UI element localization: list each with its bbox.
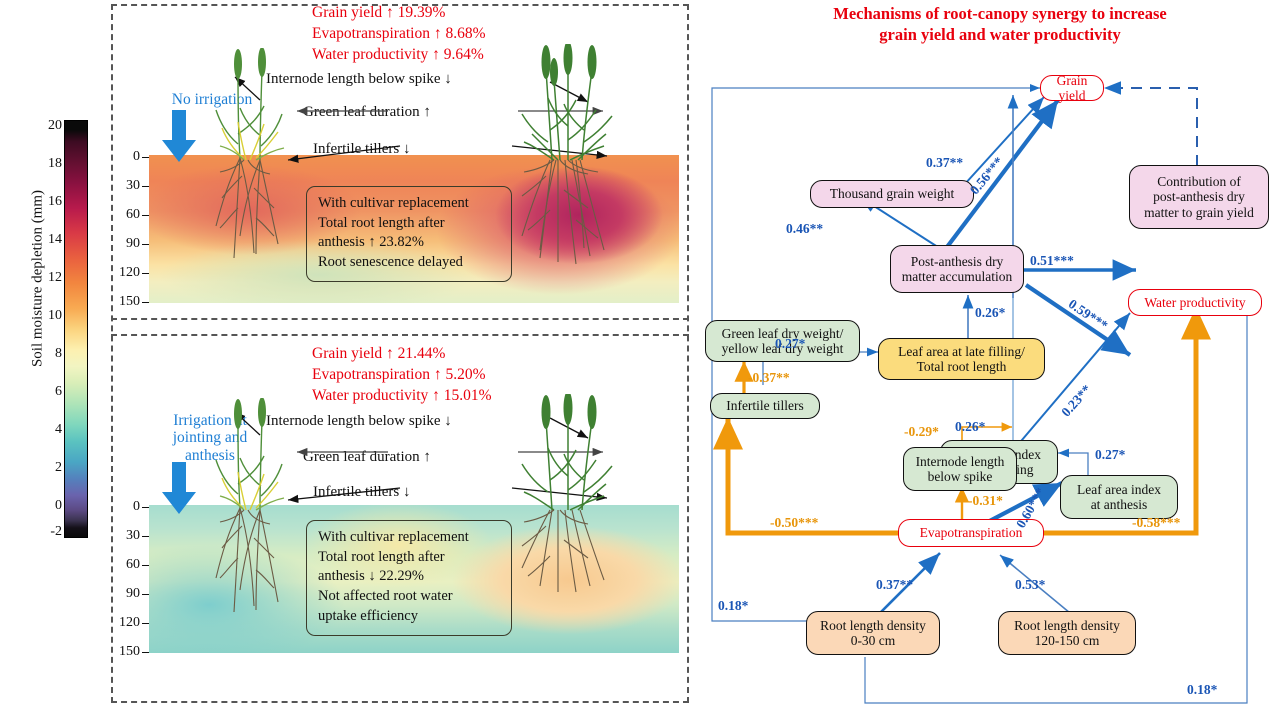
node-line: at anthesis: [1091, 497, 1148, 512]
node-line: Leaf area at late filling/: [898, 344, 1025, 359]
colorbar-tick: 0: [55, 498, 62, 514]
wheat-plant-new-cultivar-bottom: [510, 394, 640, 659]
coef-rld-shallow-to-et: 0.37**: [876, 577, 913, 593]
colorbar-gradient: [64, 120, 88, 538]
right-panel-title: Mechanisms of root-canopy synergy to inc…: [740, 3, 1260, 46]
coef-infertile-to-greenyellow: -0.37**: [748, 370, 790, 386]
node-line: Leaf area index: [1077, 482, 1161, 497]
wheat-plant-old-cultivar-top: [198, 48, 308, 308]
coef-leafarea-to-padma: 0.26*: [975, 305, 1005, 321]
depth-tick: 120: [109, 615, 140, 631]
path-diagram: Grain yield Thousand grain weight Post-a…: [700, 55, 1269, 711]
node-root-length-density-0-30[interactable]: Root length density 0-30 cm: [806, 611, 940, 655]
soil-moisture-colorbar: 20 18 16 14 12 10 8 6 4 2 0 -2: [64, 120, 88, 538]
node-contribution-post-anthesis-dry-matter[interactable]: Contribution of post-anthesis dry matter…: [1129, 165, 1269, 229]
coef-et-to-infertile-tillers: -0.50***: [770, 515, 818, 531]
node-line: 120-150 cm: [1035, 633, 1100, 648]
title-line-1: Mechanisms of root-canopy synergy to inc…: [740, 3, 1260, 24]
node-line: matter to grain yield: [1144, 205, 1254, 220]
node-internode-length-below-spike[interactable]: Internode length below spike: [903, 447, 1017, 491]
node-line: Total root length: [917, 359, 1007, 374]
coef-lai-anthesis-to-lai-late: 0.27*: [1095, 447, 1125, 463]
irrigation-down-arrow-bottom: [160, 462, 200, 518]
node-line: Internode length: [916, 454, 1005, 469]
colorbar-tick: 2: [55, 460, 62, 476]
colorbar-axis-label: Soil moisture depletion (mm): [30, 179, 47, 379]
coef-rld-shallow-to-water-productivity: 0.18*: [1187, 682, 1217, 698]
node-grain-yield[interactable]: Grain yield: [1040, 75, 1104, 101]
depth-tick: 90: [112, 586, 140, 602]
info-box-top: With cultivar replacement Total root len…: [306, 186, 512, 282]
depth-tick: 30: [112, 528, 140, 544]
coef-padma-to-contribution: 0.51***: [1030, 253, 1074, 269]
title-line-2: grain yield and water productivity: [740, 24, 1260, 45]
coef-internode-to-lai-late: -0.29*: [904, 424, 939, 440]
node-water-productivity[interactable]: Water productivity: [1128, 289, 1262, 316]
wheat-plant-old-cultivar-bottom: [198, 398, 308, 658]
node-line: 0-30 cm: [851, 633, 896, 648]
colorbar-tick: 6: [55, 384, 62, 400]
colorbar-tick: 18: [48, 156, 62, 172]
coef-greenyellow-to-leafarea: 0.27*: [775, 336, 805, 352]
stat-evapotranspiration-top: Evapotranspiration ↑ 8.68%: [312, 25, 485, 43]
node-post-anthesis-dry-matter-accumulation[interactable]: Post-anthesis dry matter accumulation: [890, 245, 1024, 293]
wheat-plant-new-cultivar-top: [510, 44, 640, 309]
coef-padma-to-tgw: 0.46**: [786, 221, 823, 237]
depth-tick: 150: [109, 644, 140, 660]
coef-rld-deep-to-et: 0.53*: [1015, 577, 1045, 593]
stat-grain-yield-bottom: Grain yield ↑ 21.44%: [312, 345, 445, 363]
info-box-bottom: With cultivar replacement Total root len…: [306, 520, 512, 636]
depth-tick: 60: [112, 557, 140, 573]
colorbar-tick: 10: [48, 308, 62, 324]
stat-evapotranspiration-bottom: Evapotranspiration ↑ 5.20%: [312, 366, 485, 384]
node-leaf-area-late-filling-total-root-length[interactable]: Leaf area at late filling/ Total root le…: [878, 338, 1045, 380]
coef-et-to-internode: -0.31*: [968, 493, 1003, 509]
irrigation-down-arrow-top: [160, 110, 200, 166]
node-leaf-area-index-anthesis[interactable]: Leaf area index at anthesis: [1060, 475, 1178, 519]
coef-tgw-to-grain-yield: 0.37**: [926, 155, 963, 171]
node-infertile-tillers[interactable]: Infertile tillers: [710, 393, 820, 419]
node-root-length-density-120-150[interactable]: Root length density 120-150 cm: [998, 611, 1136, 655]
coef-lai-late-to-padma: 0.26*: [955, 419, 985, 435]
node-line: matter accumulation: [902, 269, 1013, 284]
colorbar-tick: -2: [50, 524, 62, 540]
coef-rld-shallow-to-grain-yield: 0.18*: [718, 598, 748, 614]
colorbar-tick: 16: [48, 194, 62, 210]
node-line: below spike: [928, 469, 993, 484]
colorbar-tick: 4: [55, 422, 62, 438]
colorbar-tick: 20: [48, 118, 62, 134]
node-line: Root length density: [820, 618, 926, 633]
node-line: post-anthesis dry: [1153, 189, 1245, 204]
node-thousand-grain-weight[interactable]: Thousand grain weight: [810, 180, 974, 208]
stat-grain-yield-top: Grain yield ↑ 19.39%: [312, 4, 445, 22]
colorbar-tick: 8: [55, 346, 62, 362]
node-line: Root length density: [1014, 618, 1120, 633]
colorbar-tick: 12: [48, 270, 62, 286]
node-line: Contribution of: [1157, 174, 1241, 189]
colorbar-tick: 14: [48, 232, 62, 248]
coef-et-to-water-productivity: -0.58***: [1132, 515, 1180, 531]
node-line: Post-anthesis dry: [911, 254, 1004, 269]
